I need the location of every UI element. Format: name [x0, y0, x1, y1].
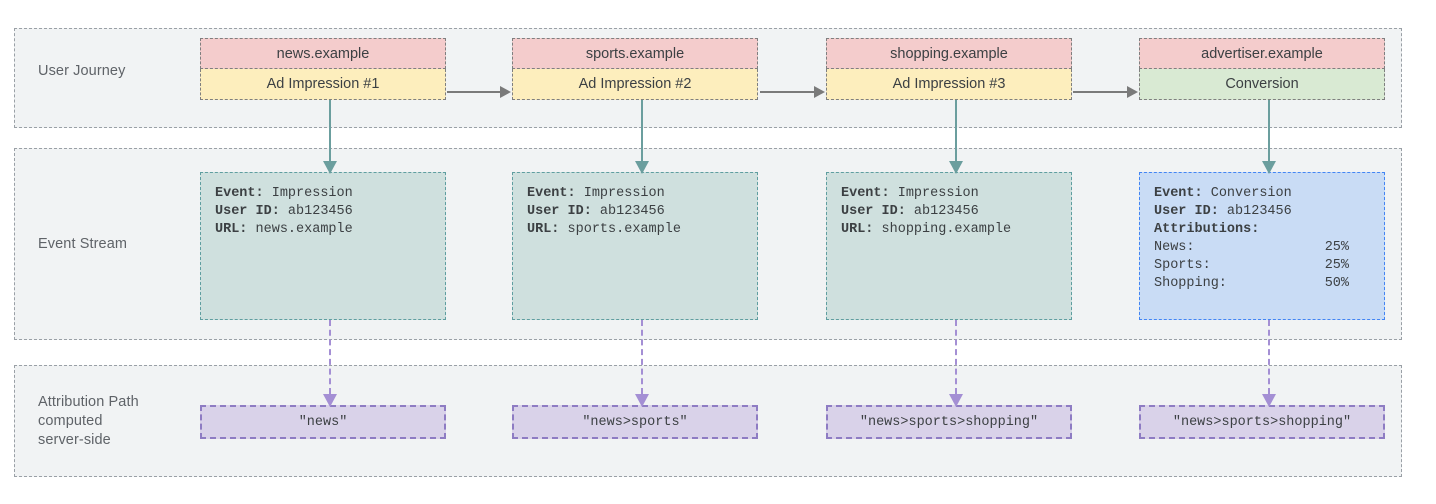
event-value-type-2: Impression	[584, 186, 665, 201]
journey-action-3: Ad Impression #3	[826, 69, 1072, 100]
event-line-url-3: URL: shopping.example	[841, 221, 1057, 239]
journey-to-event-arrow-2	[635, 100, 649, 174]
event-key-user-4: User ID:	[1154, 204, 1219, 219]
event-to-attribution-shaft-1	[329, 320, 331, 394]
attribution-row-sports: Sports: 25%	[1154, 257, 1349, 275]
event-key-type-3: Event:	[841, 186, 890, 201]
event-key-url-2: URL:	[527, 222, 559, 237]
event-value-type-1: Impression	[272, 186, 353, 201]
event-line-type-4: Event: Conversion	[1154, 185, 1370, 203]
event-line-url-2: URL: sports.example	[527, 221, 743, 239]
event-value-user-1: ab123456	[288, 204, 353, 219]
event-to-attribution-head-2	[635, 394, 649, 407]
journey-box-3[interactable]: shopping.example Ad Impression #3	[826, 38, 1072, 100]
event-key-url-3: URL:	[841, 222, 873, 237]
journey-box-2[interactable]: sports.example Ad Impression #2	[512, 38, 758, 100]
attribution-box-2[interactable]: "news>sports"	[512, 405, 758, 439]
journey-box-4[interactable]: advertiser.example Conversion	[1139, 38, 1385, 100]
attribution-label-news: News:	[1154, 239, 1195, 257]
journey-to-event-arrow-4	[1262, 100, 1276, 174]
attribution-row-news: News: 25%	[1154, 239, 1349, 257]
event-to-attribution-shaft-4	[1268, 320, 1270, 394]
event-value-url-2: sports.example	[568, 222, 681, 237]
event-box-3[interactable]: Event: Impression User ID: ab123456 URL:…	[826, 172, 1072, 320]
event-to-attribution-arrow-2	[635, 320, 649, 407]
event-key-type-2: Event:	[527, 186, 576, 201]
event-line-user-4: User ID: ab123456	[1154, 203, 1370, 221]
journey-box-1[interactable]: news.example Ad Impression #1	[200, 38, 446, 100]
journey-to-event-head-1	[323, 161, 337, 174]
journey-arrow-head-1	[500, 86, 511, 98]
attribution-label-sports: Sports:	[1154, 257, 1211, 275]
event-line-user-2: User ID: ab123456	[527, 203, 743, 221]
event-to-attribution-head-4	[1262, 394, 1276, 407]
attribution-value-news: 25%	[1325, 239, 1349, 257]
event-box-1[interactable]: Event: Impression User ID: ab123456 URL:…	[200, 172, 446, 320]
attribution-box-4[interactable]: "news>sports>shopping"	[1139, 405, 1385, 439]
lane-label-user-journey: User Journey	[38, 62, 125, 81]
event-box-2[interactable]: Event: Impression User ID: ab123456 URL:…	[512, 172, 758, 320]
journey-action-1: Ad Impression #1	[200, 69, 446, 100]
journey-arrow-shaft-2	[760, 91, 814, 93]
event-line-type-1: Event: Impression	[215, 185, 431, 203]
journey-action-2: Ad Impression #2	[512, 69, 758, 100]
journey-site-2: sports.example	[512, 38, 758, 69]
event-key-user-3: User ID:	[841, 204, 906, 219]
attribution-diagram: User Journey Event Stream Attribution Pa…	[0, 0, 1436, 504]
event-key-url-1: URL:	[215, 222, 247, 237]
event-line-type-2: Event: Impression	[527, 185, 743, 203]
journey-to-event-head-3	[949, 161, 963, 174]
event-to-attribution-arrow-1	[323, 320, 337, 407]
event-value-type-3: Impression	[898, 186, 979, 201]
journey-to-event-arrow-3	[949, 100, 963, 174]
journey-to-event-shaft-3	[955, 100, 957, 161]
journey-arrow-2-to-3	[760, 86, 825, 98]
lane-label-event-stream: Event Stream	[38, 235, 127, 254]
attribution-row-shopping: Shopping: 50%	[1154, 275, 1349, 293]
journey-arrow-3-to-4	[1073, 86, 1138, 98]
event-key-attributions-4: Attributions:	[1154, 222, 1259, 237]
event-value-user-3: ab123456	[914, 204, 979, 219]
attribution-box-1[interactable]: "news"	[200, 405, 446, 439]
attribution-label-shopping: Shopping:	[1154, 275, 1227, 293]
event-line-user-3: User ID: ab123456	[841, 203, 1057, 221]
journey-to-event-arrow-1	[323, 100, 337, 174]
event-to-attribution-head-1	[323, 394, 337, 407]
event-key-type-4: Event:	[1154, 186, 1203, 201]
journey-arrow-shaft-1	[447, 91, 500, 93]
event-to-attribution-arrow-4	[1262, 320, 1276, 407]
journey-to-event-head-4	[1262, 161, 1276, 174]
event-value-user-4: ab123456	[1227, 204, 1292, 219]
event-box-4[interactable]: Event: Conversion User ID: ab123456 Attr…	[1139, 172, 1385, 320]
journey-arrow-shaft-3	[1073, 91, 1127, 93]
event-line-url-1: URL: news.example	[215, 221, 431, 239]
event-value-type-4: Conversion	[1211, 186, 1292, 201]
event-to-attribution-shaft-2	[641, 320, 643, 394]
event-value-url-3: shopping.example	[882, 222, 1012, 237]
event-line-type-3: Event: Impression	[841, 185, 1057, 203]
journey-action-4: Conversion	[1139, 69, 1385, 100]
event-line-user-1: User ID: ab123456	[215, 203, 431, 221]
journey-site-3: shopping.example	[826, 38, 1072, 69]
journey-site-4: advertiser.example	[1139, 38, 1385, 69]
event-to-attribution-arrow-3	[949, 320, 963, 407]
journey-to-event-shaft-4	[1268, 100, 1270, 161]
journey-to-event-shaft-1	[329, 100, 331, 161]
journey-to-event-head-2	[635, 161, 649, 174]
journey-to-event-shaft-2	[641, 100, 643, 161]
event-value-url-1: news.example	[256, 222, 353, 237]
journey-arrow-head-3	[1127, 86, 1138, 98]
attribution-box-3[interactable]: "news>sports>shopping"	[826, 405, 1072, 439]
attribution-value-shopping: 50%	[1325, 275, 1349, 293]
event-to-attribution-head-3	[949, 394, 963, 407]
journey-arrow-head-2	[814, 86, 825, 98]
event-key-user-2: User ID:	[527, 204, 592, 219]
journey-site-1: news.example	[200, 38, 446, 69]
event-to-attribution-shaft-3	[955, 320, 957, 394]
lane-label-attribution-path: Attribution Path computed server-side	[38, 393, 139, 450]
event-value-user-2: ab123456	[600, 204, 665, 219]
attribution-value-sports: 25%	[1325, 257, 1349, 275]
event-key-type-1: Event:	[215, 186, 264, 201]
event-line-attributions-4: Attributions:	[1154, 221, 1370, 239]
journey-arrow-1-to-2	[447, 86, 511, 98]
event-key-user-1: User ID:	[215, 204, 280, 219]
